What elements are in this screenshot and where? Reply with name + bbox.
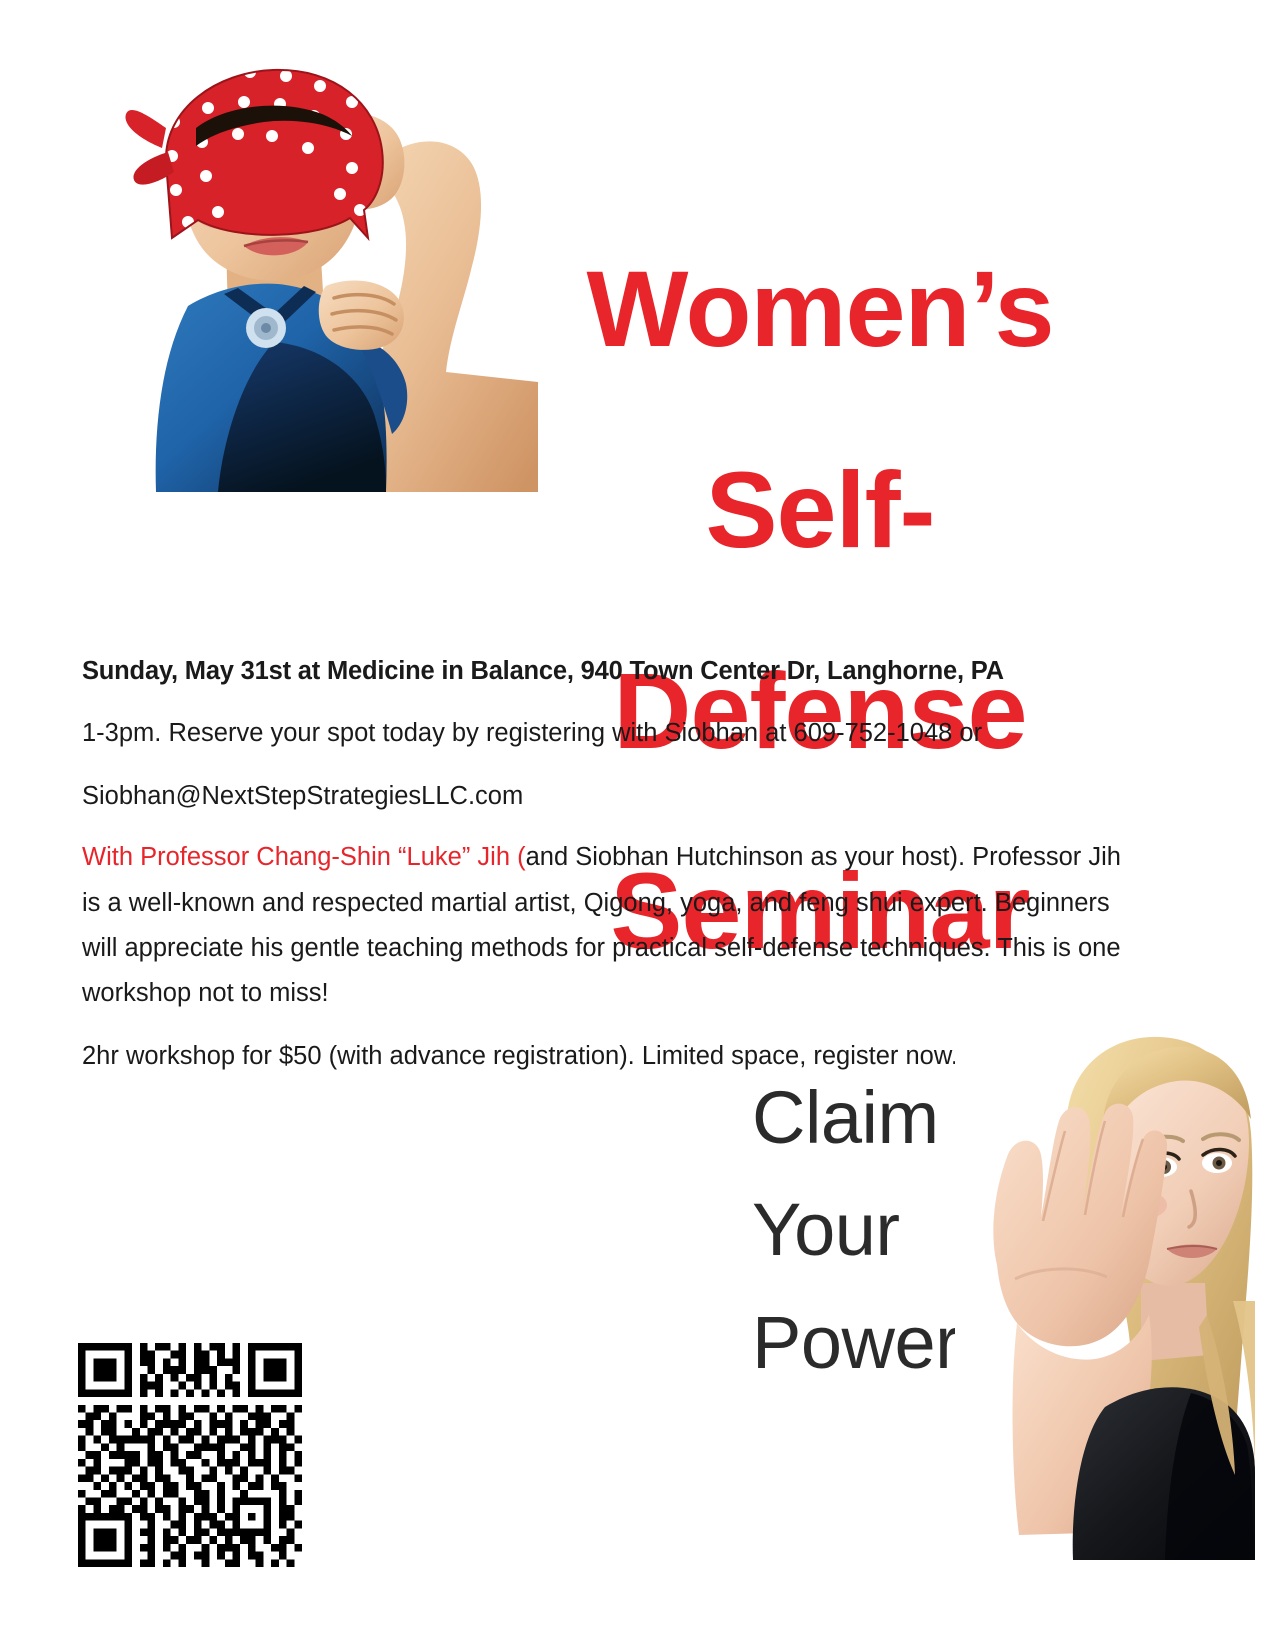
event-time-and-contact: 1-3pm. Reserve your spot today by regist… (82, 710, 1122, 756)
qr-code[interactable] (78, 1335, 302, 1575)
woman-stop-hand-image (955, 1015, 1255, 1560)
event-email[interactable]: Siobhan@NextStepStrategiesLLC.com (82, 773, 1122, 819)
headline-line-1: Women’s (520, 259, 1120, 359)
flyer-page: Women’s Self- Defense Seminar Sunday, Ma… (0, 0, 1275, 1650)
rosie-the-riveter-image (68, 42, 538, 492)
instructor-name-highlight: With Professor Chang-Shin “Luke” Jih ( (82, 843, 526, 871)
event-when-where: Sunday, May 31st at Medicine in Balance,… (82, 648, 1122, 694)
instructor-description: With Professor Chang-Shin “Luke” Jih (an… (82, 835, 1122, 1017)
headline-line-2: Self- (520, 460, 1120, 560)
